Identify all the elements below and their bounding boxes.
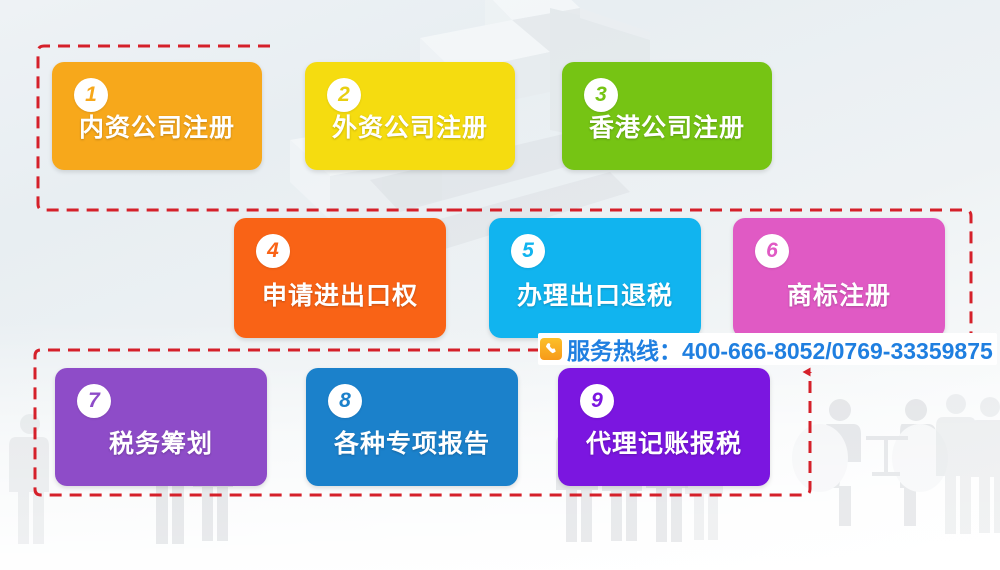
card-label: 外资公司注册: [305, 108, 515, 144]
service-card-5[interactable]: 5办理出口退税: [489, 218, 701, 338]
service-card-9[interactable]: 9代理记账报税: [558, 368, 770, 486]
card-label: 各种专项报告: [306, 424, 518, 460]
service-card-6[interactable]: 6商标注册: [733, 218, 945, 338]
hotline-text: 服务热线：400-666-8052/0769-33359875: [567, 332, 993, 366]
service-card-4[interactable]: 4申请进出口权: [234, 218, 446, 338]
card-number-badge: 2: [327, 78, 361, 112]
service-card-7[interactable]: 7税务筹划: [55, 368, 267, 486]
card-number-badge: 5: [511, 234, 545, 268]
hotline-banner[interactable]: 服务热线：400-666-8052/0769-33359875: [538, 333, 997, 365]
card-number-badge: 4: [256, 234, 290, 268]
service-card-8[interactable]: 8各种专项报告: [306, 368, 518, 486]
phone-icon: [540, 338, 562, 360]
card-label: 香港公司注册: [562, 108, 772, 144]
card-number-badge: 7: [77, 384, 111, 418]
card-number-badge: 9: [580, 384, 614, 418]
card-label: 税务筹划: [55, 424, 267, 460]
card-number-badge: 1: [74, 78, 108, 112]
infographic-stage: 1内资公司注册2外资公司注册3香港公司注册4申请进出口权5办理出口退税6商标注册…: [0, 0, 1000, 570]
card-label: 代理记账报税: [558, 424, 770, 460]
card-number-badge: 3: [584, 78, 618, 112]
service-card-1[interactable]: 1内资公司注册: [52, 62, 262, 170]
service-card-2[interactable]: 2外资公司注册: [305, 62, 515, 170]
card-number-badge: 6: [755, 234, 789, 268]
card-label: 内资公司注册: [52, 108, 262, 144]
card-label: 办理出口退税: [489, 276, 701, 312]
card-label: 商标注册: [733, 276, 945, 312]
service-card-3[interactable]: 3香港公司注册: [562, 62, 772, 170]
card-number-badge: 8: [328, 384, 362, 418]
card-label: 申请进出口权: [234, 276, 446, 312]
